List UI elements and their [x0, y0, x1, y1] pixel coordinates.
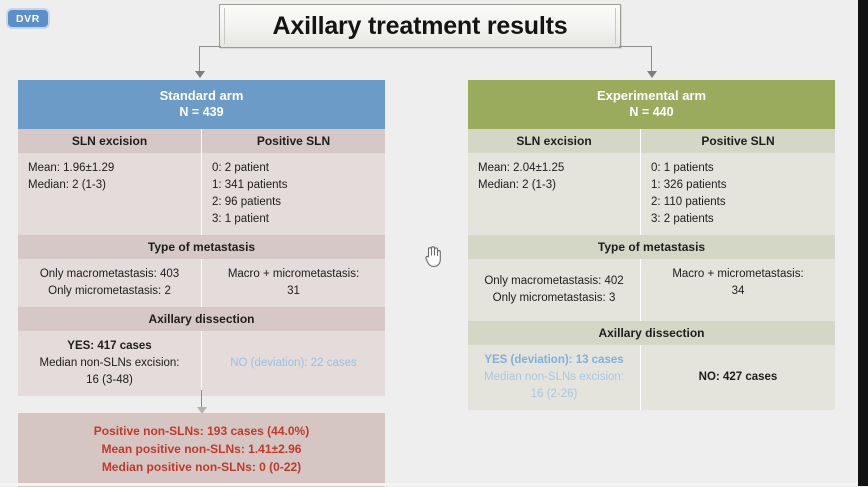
experimental-arm-table: Experimental arm N = 440 SLN excision Po… — [468, 80, 835, 410]
connector-right-horizontal — [619, 46, 652, 47]
experimental-arm-header: Experimental arm N = 440 — [468, 80, 835, 129]
standard-positive-sln-cell: 0: 2 patient 1: 341 patients 2: 96 patie… — [202, 153, 385, 235]
experimental-metastasis-header: Type of metastasis — [468, 235, 835, 259]
standard-col-header-sln-excision: SLN excision — [18, 129, 201, 153]
experimental-dissection-yes: YES (deviation): 13 cases — [478, 352, 630, 369]
standard-combined-value: 31 — [212, 283, 375, 300]
standard-metastasis-row: Only macrometastasis: 403 Only micrometa… — [18, 259, 385, 307]
connector-left-vertical — [199, 46, 200, 72]
list-item: 2: 96 patients — [212, 194, 375, 211]
screen-right-edge — [858, 0, 868, 486]
experimental-dissection-row: YES (deviation): 13 cases Median non-SLN… — [468, 345, 835, 410]
connector-left-arrowhead — [195, 71, 205, 78]
standard-metastasis-combined-cell: Macro + micrometastasis: 31 — [202, 259, 385, 307]
experimental-dissection-header: Axillary dissection — [468, 321, 835, 345]
standard-sln-median: Median: 2 (1-3) — [28, 177, 191, 194]
experimental-col-header-sln-excision: SLN excision — [468, 129, 640, 153]
experimental-metastasis-only-cell: Only macrometastasis: 402 Only micrometa… — [468, 259, 640, 321]
standard-dissection-no: NO (deviation): 22 cases — [230, 355, 357, 372]
standard-dissection-row: YES: 417 cases Median non-SLNs excision:… — [18, 331, 385, 396]
slide-canvas: DVR Axillary treatment results Standard … — [0, 0, 868, 486]
experimental-arm-name: Experimental arm — [468, 88, 835, 104]
standard-arm-column-headers: SLN excision Positive SLN — [18, 129, 385, 153]
experimental-arm-n: N = 440 — [468, 104, 835, 120]
standard-dissection-yes: YES: 417 cases — [28, 338, 191, 355]
standard-dissection-yes-cell: YES: 417 cases Median non-SLNs excision:… — [18, 331, 201, 396]
experimental-metastasis-row: Only macrometastasis: 402 Only micrometa… — [468, 259, 835, 321]
conclusion-line-1: Positive non-SLNs: 193 cases (44.0%) — [18, 422, 385, 440]
experimental-dissection-median-label: Median non-SLNs excision: — [478, 369, 630, 386]
conclusion-box: Positive non-SLNs: 193 cases (44.0%) Mea… — [18, 413, 385, 487]
list-item: 2: 110 patients — [651, 194, 825, 211]
standard-col-header-positive-sln: Positive SLN — [202, 129, 385, 153]
experimental-macrometastasis: Only macrometastasis: 402 — [478, 273, 630, 290]
dvr-badge-label: DVR — [16, 13, 40, 25]
experimental-dissection-no-cell: NO: 427 cases — [641, 345, 835, 410]
slide-title-inner: Axillary treatment results — [224, 8, 616, 44]
standard-metastasis-header: Type of metastasis — [18, 235, 385, 259]
connector-right-vertical — [651, 46, 652, 72]
list-item: 3: 1 patient — [212, 211, 375, 228]
standard-macrometastasis: Only macrometastasis: 403 — [28, 266, 191, 283]
conclusion-line-3: Median positive non-SLNs: 0 (0-22) — [18, 458, 385, 476]
page-title: Axillary treatment results — [273, 12, 568, 41]
list-item: 0: 2 patient — [212, 160, 375, 177]
experimental-sln-mean: Mean: 2.04±1.25 — [478, 160, 630, 177]
experimental-sln-row: Mean: 2.04±1.25 Median: 2 (1-3) 0: 1 pat… — [468, 153, 835, 235]
standard-metastasis-only-cell: Only macrometastasis: 403 Only micrometa… — [18, 259, 201, 307]
standard-sln-row: Mean: 1.96±1.29 Median: 2 (1-3) 0: 2 pat… — [18, 153, 385, 235]
standard-dissection-median-label: Median non-SLNs excision: — [28, 355, 191, 372]
standard-arm-table: Standard arm N = 439 SLN excision Positi… — [18, 80, 385, 396]
experimental-micrometastasis: Only micrometastasis: 3 — [478, 290, 630, 307]
experimental-combined-value: 34 — [651, 283, 825, 300]
list-item: 3: 2 patients — [651, 211, 825, 228]
experimental-arm-column-headers: SLN excision Positive SLN — [468, 129, 835, 153]
mouse-cursor-pointer-icon — [424, 246, 442, 268]
slide-title-box: Axillary treatment results — [219, 4, 621, 48]
experimental-metastasis-combined-cell: Macro + micrometastasis: 34 — [641, 259, 835, 321]
standard-arm-name: Standard arm — [18, 88, 385, 104]
experimental-col-header-positive-sln: Positive SLN — [641, 129, 835, 153]
standard-dissection-no-cell: NO (deviation): 22 cases — [202, 331, 385, 396]
connector-right-arrowhead — [647, 71, 657, 78]
experimental-positive-sln-cell: 0: 1 patients 1: 326 patients 2: 110 pat… — [641, 153, 835, 235]
standard-arm-header: Standard arm N = 439 — [18, 80, 385, 129]
standard-dissection-header: Axillary dissection — [18, 307, 385, 331]
standard-sln-mean: Mean: 1.96±1.29 — [28, 160, 191, 177]
experimental-combined-label: Macro + micrometastasis: — [651, 266, 825, 283]
conclusion-line-2: Mean positive non-SLNs: 1.41±2.96 — [18, 440, 385, 458]
connector-left-horizontal — [199, 46, 221, 47]
dvr-badge: DVR — [8, 10, 48, 27]
experimental-dissection-median-value: 16 (2-26) — [478, 386, 630, 403]
standard-sln-excision-cell: Mean: 1.96±1.29 Median: 2 (1-3) — [18, 153, 201, 235]
experimental-dissection-yes-cell: YES (deviation): 13 cases Median non-SLN… — [468, 345, 640, 410]
list-item: 1: 326 patients — [651, 177, 825, 194]
standard-arm-n: N = 439 — [18, 104, 385, 120]
experimental-sln-median: Median: 2 (1-3) — [478, 177, 630, 194]
experimental-sln-excision-cell: Mean: 2.04±1.25 Median: 2 (1-3) — [468, 153, 640, 235]
experimental-dissection-no: NO: 427 cases — [699, 369, 778, 386]
standard-dissection-median-value: 16 (3-48) — [28, 372, 191, 389]
standard-combined-label: Macro + micrometastasis: — [212, 266, 375, 283]
standard-micrometastasis: Only micrometastasis: 2 — [28, 283, 191, 300]
list-item: 1: 341 patients — [212, 177, 375, 194]
list-item: 0: 1 patients — [651, 160, 825, 177]
